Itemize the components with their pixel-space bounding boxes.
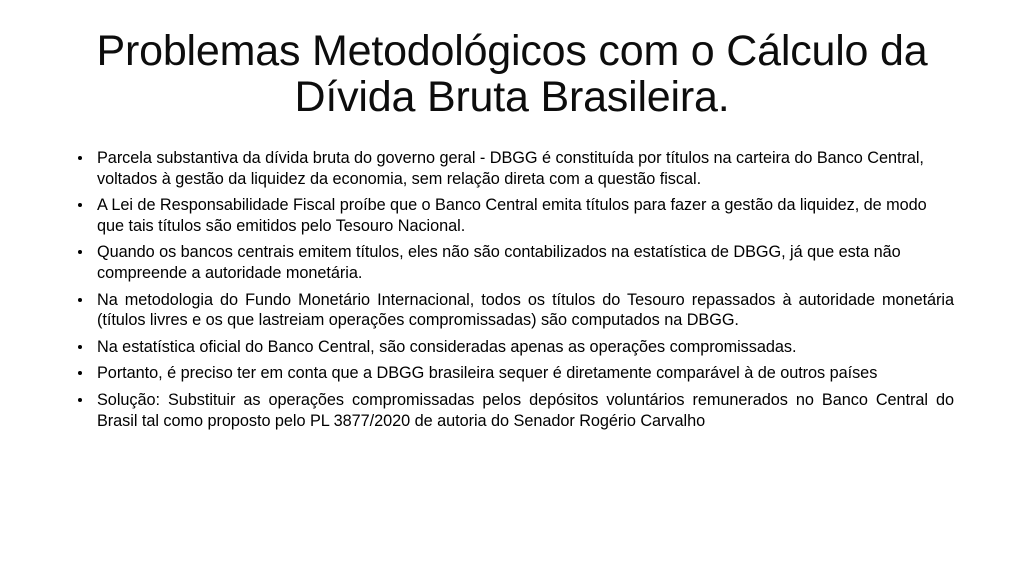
bullet-dot-icon	[78, 345, 82, 349]
list-item: Portanto, é preciso ter em conta que a D…	[72, 363, 954, 384]
list-item: Na metodologia do Fundo Monetário Intern…	[72, 290, 954, 331]
list-item-text: Solução: Substituir as operações comprom…	[97, 390, 954, 431]
list-item: Solução: Substituir as operações comprom…	[72, 390, 954, 431]
list-item-text: Quando os bancos centrais emitem títulos…	[97, 242, 954, 283]
list-item-text: A Lei de Responsabilidade Fiscal proíbe …	[97, 195, 954, 236]
list-item-text: Na estatística oficial do Banco Central,…	[97, 337, 954, 358]
page-title: Problemas Metodológicos com o Cálculo da…	[62, 28, 962, 120]
bullet-dot-icon	[78, 371, 82, 375]
list-item-text: Parcela substantiva da dívida bruta do g…	[97, 148, 954, 189]
bullet-dot-icon	[78, 298, 82, 302]
presentation-slide: Problemas Metodológicos com o Cálculo da…	[0, 0, 1024, 576]
bullet-dot-icon	[78, 250, 82, 254]
list-item: A Lei de Responsabilidade Fiscal proíbe …	[72, 195, 954, 236]
list-item: Quando os bancos centrais emitem títulos…	[72, 242, 954, 283]
list-item-text: Na metodologia do Fundo Monetário Intern…	[97, 290, 954, 331]
bullet-list: Parcela substantiva da dívida bruta do g…	[72, 148, 954, 431]
list-item: Parcela substantiva da dívida bruta do g…	[72, 148, 954, 189]
list-item-text: Portanto, é preciso ter em conta que a D…	[97, 363, 954, 384]
bullet-dot-icon	[78, 156, 82, 160]
bullet-dot-icon	[78, 203, 82, 207]
list-item: Na estatística oficial do Banco Central,…	[72, 337, 954, 358]
bullet-dot-icon	[78, 398, 82, 402]
